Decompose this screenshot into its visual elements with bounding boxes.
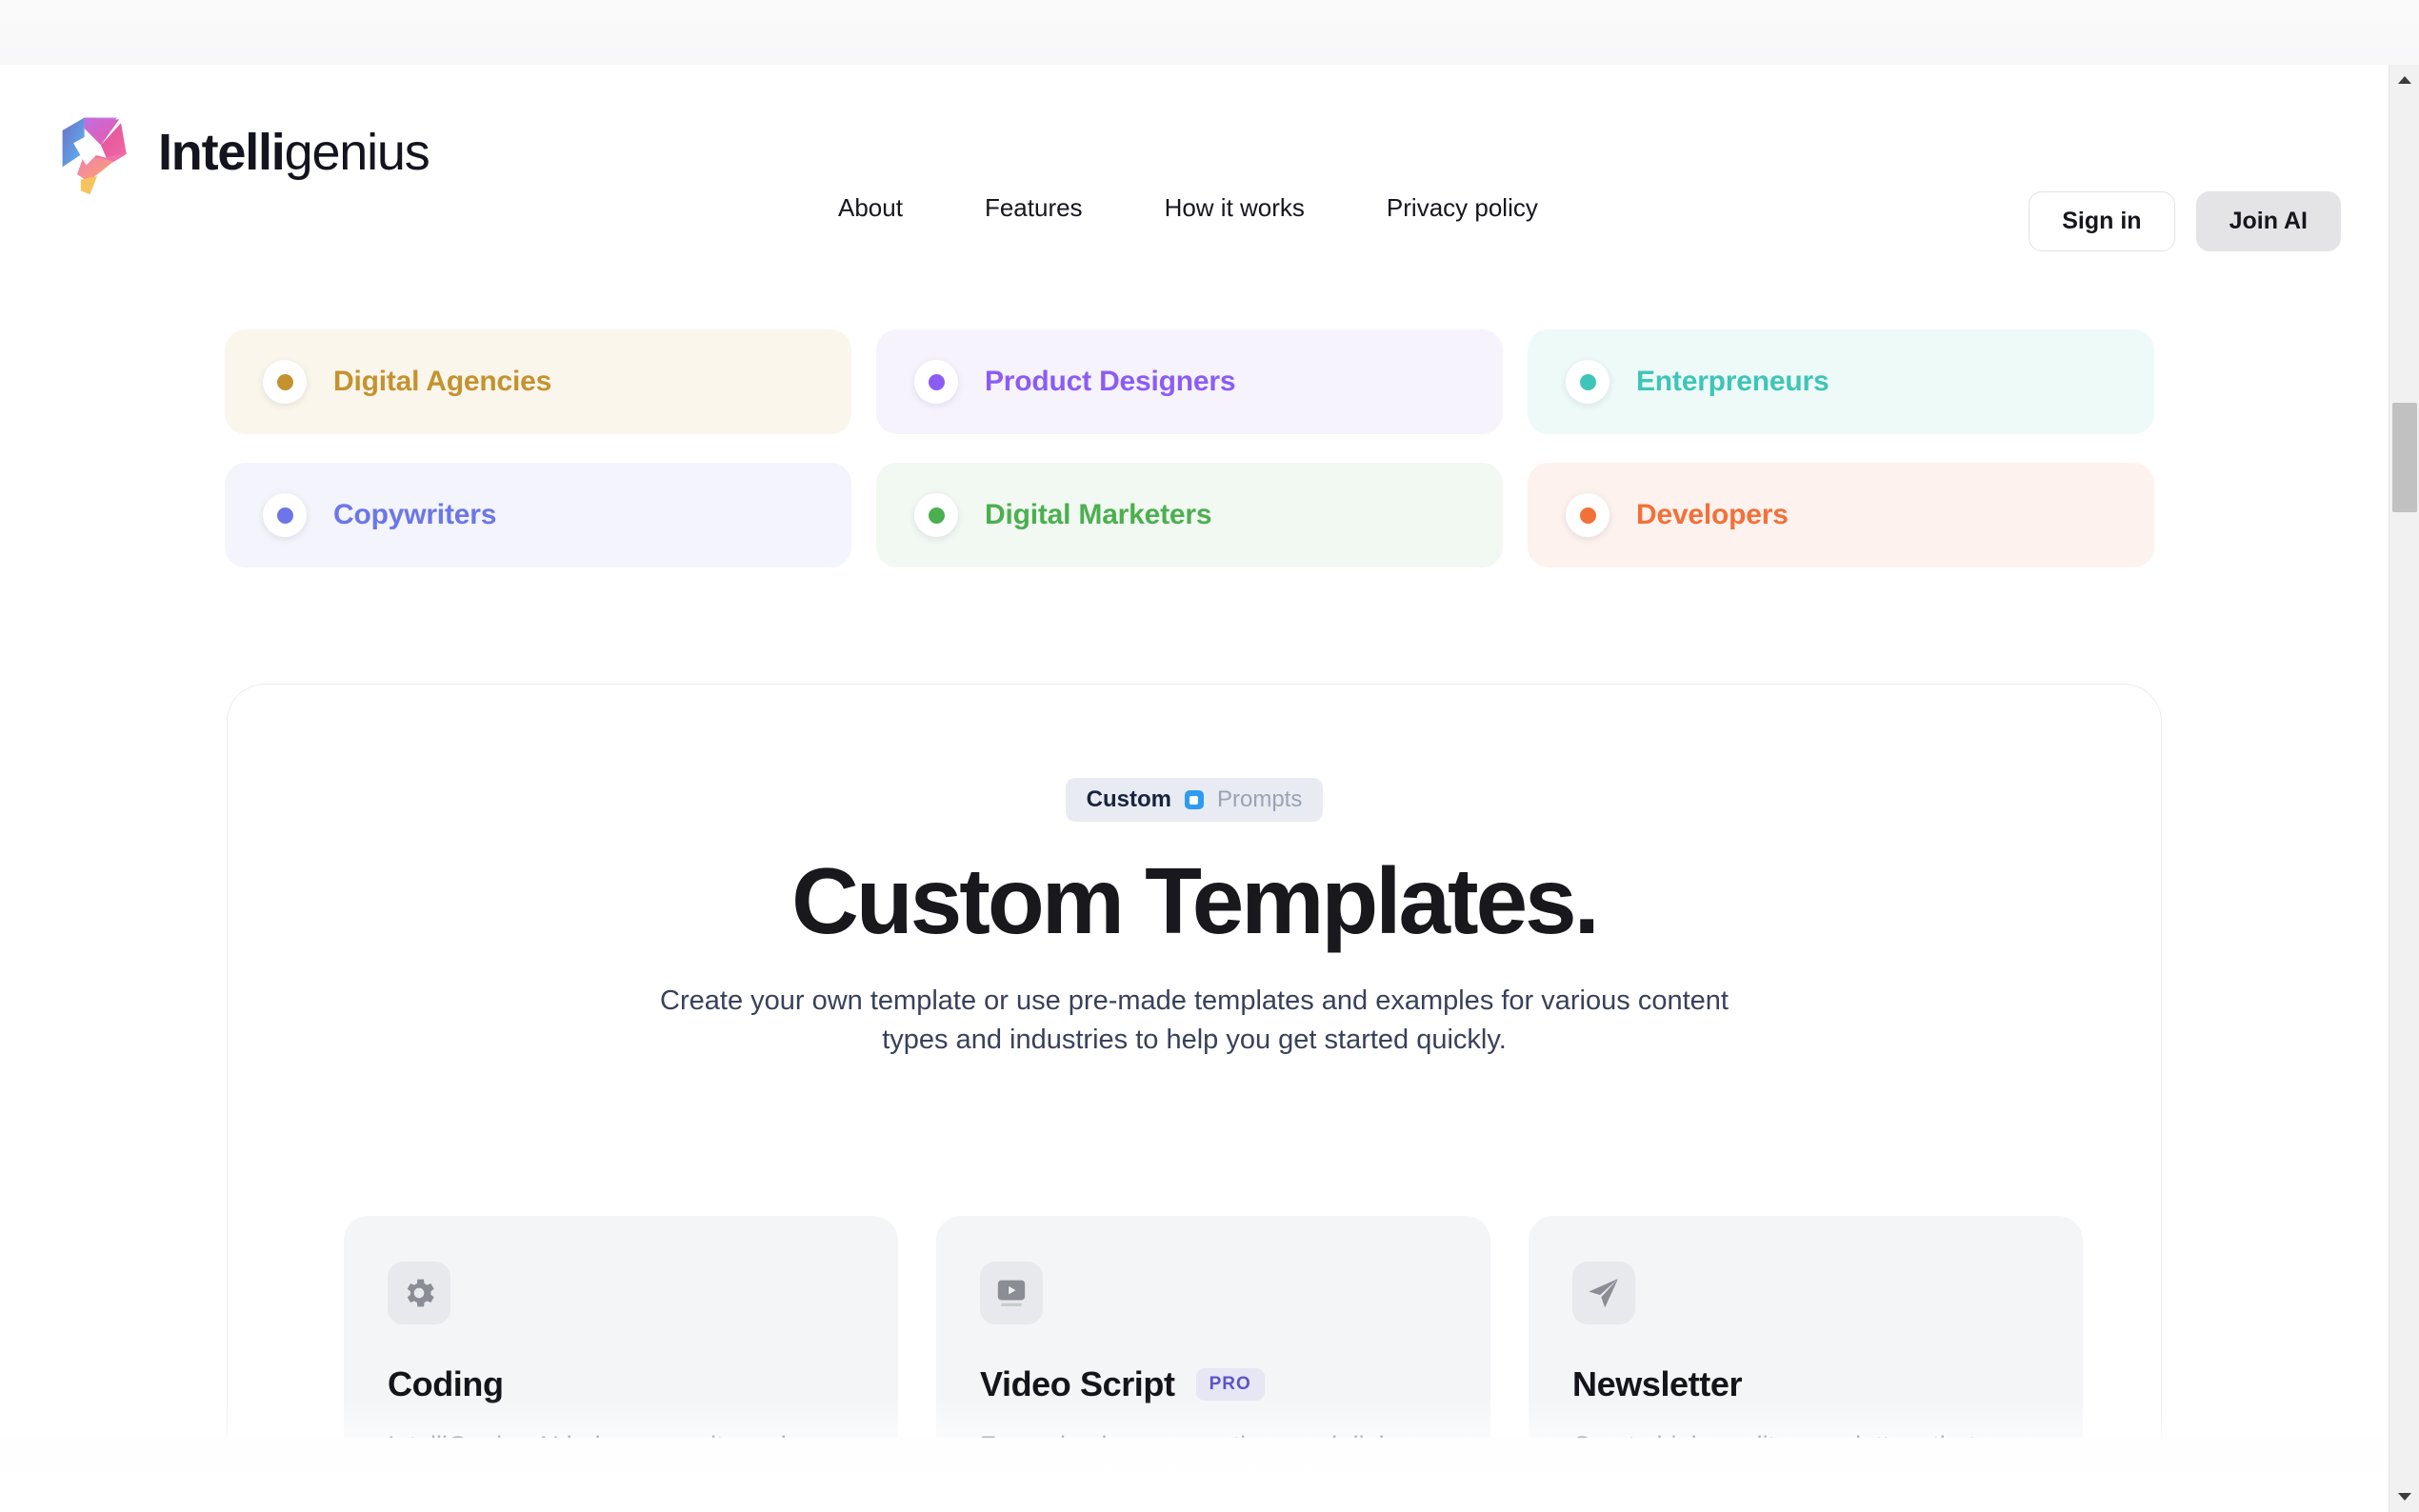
audience-pill-grid: Digital Agencies Product Designers Enter… <box>225 329 2164 567</box>
template-card-title: Video Script <box>980 1364 1175 1404</box>
pill-dot-icon <box>277 507 293 524</box>
audience-pill-digital-marketers[interactable]: Digital Marketers <box>876 463 1503 567</box>
custom-templates-panel: Custom Prompts Custom Templates. Create … <box>227 684 2162 1502</box>
page-title: Custom Templates. <box>228 854 2161 949</box>
pill-dot-icon <box>929 507 945 524</box>
browser-viewport: Intelligenius About Features How it work… <box>0 0 2419 1512</box>
pill-dot-icon <box>929 374 945 390</box>
pill-badge-icon <box>1566 493 1609 537</box>
main-navigation: About Features How it works Privacy poli… <box>838 193 1538 223</box>
audience-pill-enterpreneurs[interactable]: Enterpreneurs <box>1528 329 2154 434</box>
pill-badge-icon <box>263 360 307 404</box>
audience-pill-label: Copywriters <box>333 499 496 531</box>
scroll-up-arrow-icon[interactable] <box>2389 65 2419 95</box>
nav-item-how-it-works[interactable]: How it works <box>1165 193 1305 223</box>
audience-pill-developers[interactable]: Developers <box>1528 463 2154 567</box>
pro-badge: PRO <box>1196 1368 1265 1401</box>
audience-pill-label: Enterpreneurs <box>1636 366 1829 398</box>
pill-badge-icon <box>263 493 307 537</box>
page-scrollbar[interactable] <box>2389 65 2419 1512</box>
custom-prompts-badge: Custom Prompts <box>1066 778 1324 822</box>
scroll-down-arrow-icon[interactable] <box>2389 1482 2419 1512</box>
pill-badge-icon <box>914 360 958 404</box>
template-card-header: Coding <box>388 1364 854 1404</box>
brand-name-strong: Intelli <box>158 124 285 181</box>
audience-pill-copywriters[interactable]: Copywriters <box>225 463 851 567</box>
template-card-title: Coding <box>388 1364 504 1404</box>
brand-logo[interactable]: Intelligenius <box>53 107 430 198</box>
eyebrow-strong-text: Custom <box>1087 786 1171 813</box>
pill-dot-icon <box>1580 374 1596 390</box>
pill-badge-icon <box>914 493 958 537</box>
browser-top-chrome <box>0 0 2419 65</box>
nav-item-privacy-policy[interactable]: Privacy policy <box>1387 193 1538 223</box>
gear-icon <box>388 1262 450 1324</box>
eyebrow-wrapper: Custom Prompts <box>1066 778 1324 822</box>
paper-plane-icon-glyph <box>1585 1274 1623 1312</box>
audience-pill-label: Digital Agencies <box>333 366 551 398</box>
header-actions: Sign in Join AI <box>2029 191 2341 251</box>
audience-pill-label: Digital Marketers <box>985 499 1211 531</box>
pill-dot-icon <box>1580 507 1596 524</box>
audience-pill-product-designers[interactable]: Product Designers <box>876 329 1503 434</box>
audience-pill-digital-agencies[interactable]: Digital Agencies <box>225 329 851 434</box>
page-subtitle: Create your own template or use pre-made… <box>656 982 1732 1060</box>
blue-square-icon <box>1185 790 1204 809</box>
sign-in-button[interactable]: Sign in <box>2029 191 2174 251</box>
audience-pill-label: Product Designers <box>985 366 1235 398</box>
site-header: Intelligenius About Features How it work… <box>0 65 2389 227</box>
video-play-icon-glyph <box>992 1274 1030 1312</box>
brand-name-light: genius <box>285 124 430 181</box>
nav-item-about[interactable]: About <box>838 193 903 223</box>
template-card-title: Newsletter <box>1572 1364 1742 1404</box>
page-canvas: Intelligenius About Features How it work… <box>0 65 2389 1512</box>
audience-pill-label: Developers <box>1636 499 1789 531</box>
scrollbar-thumb[interactable] <box>2392 403 2417 512</box>
nav-item-features[interactable]: Features <box>985 193 1083 223</box>
gear-icon-glyph <box>400 1274 438 1312</box>
page-below-panel-area <box>0 1438 2389 1512</box>
join-ai-button[interactable]: Join AI <box>2196 191 2341 251</box>
brand-name: Intelligenius <box>158 127 430 178</box>
pill-badge-icon <box>1566 360 1609 404</box>
intelligenius-cube-logo-icon <box>53 107 145 198</box>
template-card-header: Newsletter <box>1572 1364 2039 1404</box>
paper-plane-icon <box>1572 1262 1635 1324</box>
eyebrow-muted-text: Prompts <box>1217 786 1302 813</box>
pill-dot-icon <box>277 374 293 390</box>
template-card-header: Video Script PRO <box>980 1364 1447 1404</box>
video-play-icon <box>980 1262 1043 1324</box>
